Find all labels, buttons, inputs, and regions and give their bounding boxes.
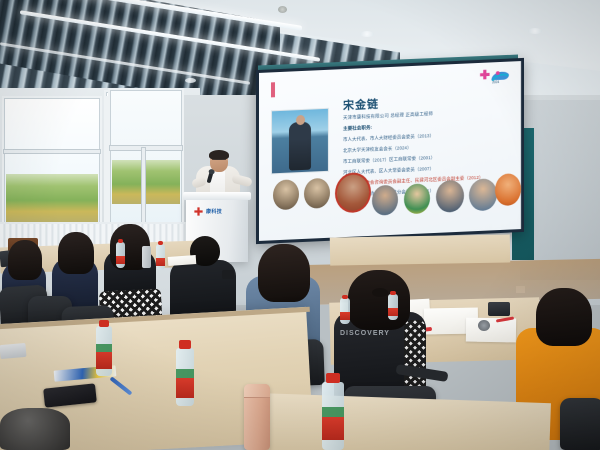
slide-subtitle: 天津市康科技有限公司 总经理 正高级工程师	[343, 111, 433, 121]
white-device	[0, 343, 27, 359]
slide-surface: 2024 宋金链 天津市康科技有限公司 总经理 正高级工程师 主要社会职务: 市…	[259, 61, 521, 241]
slide-title: 宋金链	[343, 95, 379, 113]
speaker-headshot-photo	[271, 108, 329, 175]
notebook-3	[466, 318, 516, 343]
projection-screen[interactable]: 2024 宋金链 天津市康科技有限公司 总经理 正高级工程师 主要社会职务: 市…	[256, 58, 524, 244]
round-object	[478, 320, 490, 331]
camera-object	[488, 302, 510, 316]
water-bottle-6[interactable]	[340, 298, 350, 324]
attendee-foreground-head	[0, 408, 70, 450]
window-left	[2, 96, 102, 226]
office-chair-8[interactable]	[560, 398, 600, 450]
portrait-color-2	[372, 185, 398, 216]
pink-thermos[interactable]	[244, 384, 270, 450]
paper-back-left	[168, 255, 197, 266]
water-bottle-4[interactable]	[116, 242, 125, 268]
water-bottle-7[interactable]	[388, 294, 398, 320]
water-bottle-3[interactable]	[322, 382, 344, 450]
recessed-downlight-2	[528, 28, 542, 34]
water-bottle-5[interactable]	[156, 244, 165, 270]
sprinkler-head	[278, 6, 287, 13]
conference-room-photo: 2024 宋金链 天津市康科技有限公司 总经理 正高级工程师 主要社会职务: 市…	[0, 0, 600, 450]
portrait-color-5	[469, 178, 497, 211]
red-cross-icon	[194, 207, 203, 216]
glasses-icon	[212, 159, 226, 164]
portrait-color-1	[335, 172, 371, 214]
recessed-downlight-1	[360, 31, 374, 37]
slide-line-1: 市人大代表、市人大财经委员会委员（2013）	[343, 133, 434, 143]
portrait-color-4	[436, 180, 464, 213]
organization-logo: 2024	[475, 66, 513, 85]
phone-in-hand	[222, 270, 234, 279]
jacket-sleeve-pattern	[404, 320, 426, 394]
table-back-right	[330, 234, 510, 265]
jacket-text: DISCOVERY	[340, 330, 390, 337]
table-front-right	[249, 393, 551, 450]
water-bottle-1[interactable]	[96, 326, 112, 376]
slide-section-heading: 主要社会职务:	[343, 125, 372, 132]
window-right	[108, 88, 184, 226]
svg-text:2024: 2024	[492, 80, 499, 84]
portrait-historic-2	[304, 178, 330, 209]
portrait-color-6	[495, 173, 521, 206]
slide-line-3: 市工商联常委（2017）区工商联常委（2001）	[343, 155, 435, 165]
lectern-top	[183, 192, 251, 200]
recessed-downlight-3	[185, 78, 196, 83]
lectern-logo-text: 康科技	[206, 208, 222, 215]
portrait-color-3	[404, 183, 430, 214]
slide-accent-bar	[271, 82, 275, 97]
portrait-historic-1	[273, 179, 299, 210]
slide-line-2: 北京大学天津校友会会长（2024）	[343, 145, 412, 154]
metal-flask[interactable]	[142, 246, 151, 268]
water-bottle-2[interactable]	[176, 348, 194, 406]
hair-tie	[372, 288, 388, 297]
